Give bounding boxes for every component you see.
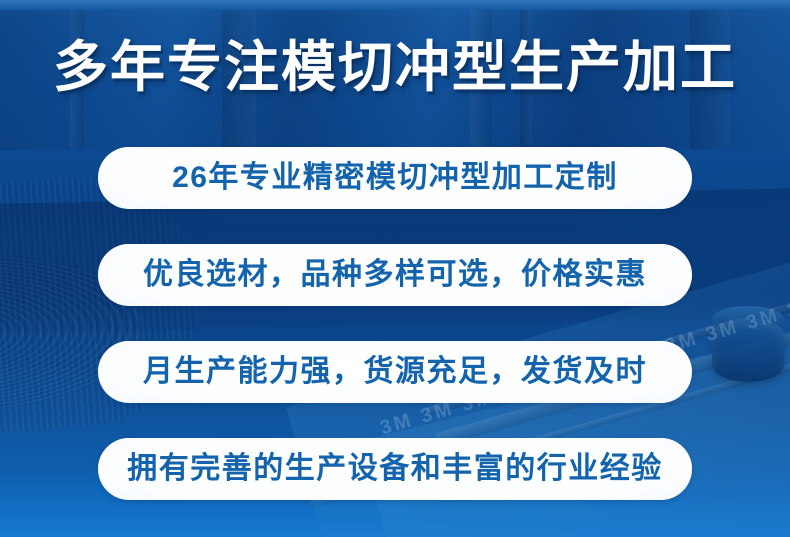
feature-pill-1: 26年专业精密模切冲型加工定制 <box>98 147 692 209</box>
feature-pill-3: 月生产能力强，货源充足，发货及时 <box>98 341 692 403</box>
feature-pill-4: 拥有完善的生产设备和丰富的行业经验 <box>98 438 692 500</box>
feature-pill-label: 26年专业精密模切冲型加工定制 <box>172 147 618 209</box>
feature-pill-label: 月生产能力强，货源充足，发货及时 <box>143 341 647 403</box>
feature-list: 26年专业精密模切冲型加工定制 优良选材，品种多样可选，价格实惠 月生产能力强，… <box>0 147 790 500</box>
feature-pill-label: 拥有完善的生产设备和丰富的行业经验 <box>127 438 663 500</box>
page-title: 多年专注模切冲型生产加工 <box>0 34 790 100</box>
feature-pill-2: 优良选材，品种多样可选，价格实惠 <box>98 244 692 306</box>
promo-banner: 3M 3M 3M 3M 3M 3M 3M 3M 3M 3M 3M 3M 3M 3… <box>0 0 790 537</box>
feature-pill-label: 优良选材，品种多样可选，价格实惠 <box>143 244 647 306</box>
